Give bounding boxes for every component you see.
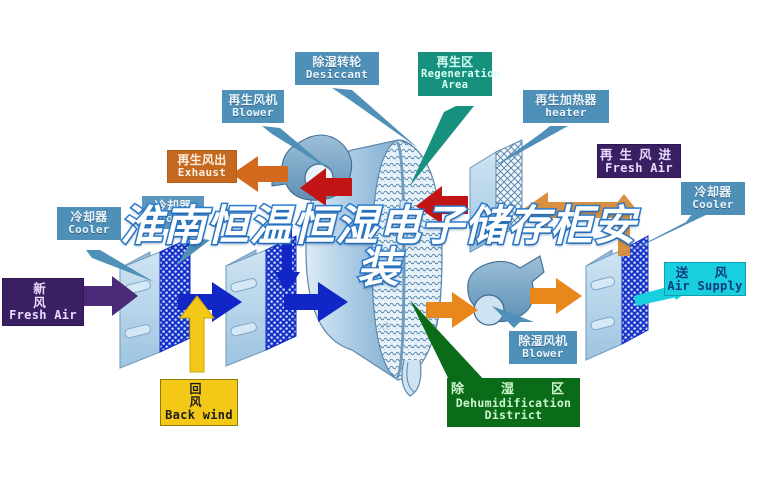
label-regen-heater-cn: 再生加热器 [526,94,606,107]
label-exhaust-cn: 再生风出 [170,154,234,167]
label-back-wind: 回 风 Back wind [160,379,238,426]
label-dehum-district: 除 湿 区 Dehumidification District [447,378,580,427]
label-dehum-blower: 除湿风机 Blower [509,331,577,364]
label-cooler-left-2: 冷却器 Cooler [142,196,204,229]
label-fresh-air-regen-cn: 再生风进 [600,148,678,162]
label-fresh-air-regen-en: Fresh Air [600,162,678,175]
label-cooler-right-en: Cooler [684,199,742,211]
label-dehum-district-cn: 除 湿 区 [450,383,577,397]
label-desiccant-wheel-en: Desiccant [298,69,376,81]
label-cooler-left-2-en: Cooler [145,213,201,225]
label-air-supply-cn: 送 风 [667,266,743,280]
label-regen-heater: 再生加热器 heater [523,90,609,123]
label-dehum-district-en: Dehumidification District [450,397,577,422]
label-regen-area: 再生区 Regeneration Area [418,52,492,96]
arrow-dehum-2 [530,278,582,314]
label-fresh-air-process-en: Fresh Air [5,309,81,322]
label-desiccant-wheel-cn: 除湿转轮 [298,56,376,69]
label-dehum-blower-cn: 除湿风机 [512,335,574,348]
label-exhaust: 再生风出 Exhaust [167,150,237,183]
wheel-watermark: xt [378,319,390,333]
label-regen-heater-en: heater [526,107,606,119]
label-desiccant-wheel: 除湿转轮 Desiccant [295,52,379,85]
label-fresh-air-regen: 再生风进 Fresh Air [597,144,681,178]
label-regen-blower-en: Blower [225,107,281,119]
arrow-exhaust [232,156,288,192]
label-cooler-left-1-en: Cooler [60,224,118,236]
label-dehum-blower-en: Blower [512,348,574,360]
label-cooler-right-cn: 冷却器 [684,186,742,199]
label-air-supply-en: Air Supply [667,280,743,293]
label-cooler-left-2-cn: 冷却器 [145,200,201,213]
label-regen-area-cn: 再生区 [421,56,489,69]
label-fresh-air-process-cn: 新 风 [5,282,81,309]
label-fresh-air-process: 新 风 Fresh Air [2,278,84,326]
label-cooler-right: 冷却器 Cooler [681,182,745,215]
label-air-supply: 送 风 Air Supply [664,262,746,296]
label-regen-area-en: Regeneration Area [421,69,489,92]
label-back-wind-en: Back wind [163,409,235,422]
label-back-wind-cn: 回 风 [163,383,235,409]
diagram-canvas: xt 除湿转轮 Desiccant 再生风机 Blower 再生区 Regene… [0,0,757,488]
label-regen-blower-cn: 再生风机 [225,94,281,107]
label-cooler-left-1: 冷却器 Cooler [57,207,121,240]
label-regen-blower: 再生风机 Blower [222,90,284,123]
label-cooler-left-1-cn: 冷却器 [60,211,118,224]
regen-heater [470,140,522,252]
label-exhaust-en: Exhaust [170,167,234,179]
